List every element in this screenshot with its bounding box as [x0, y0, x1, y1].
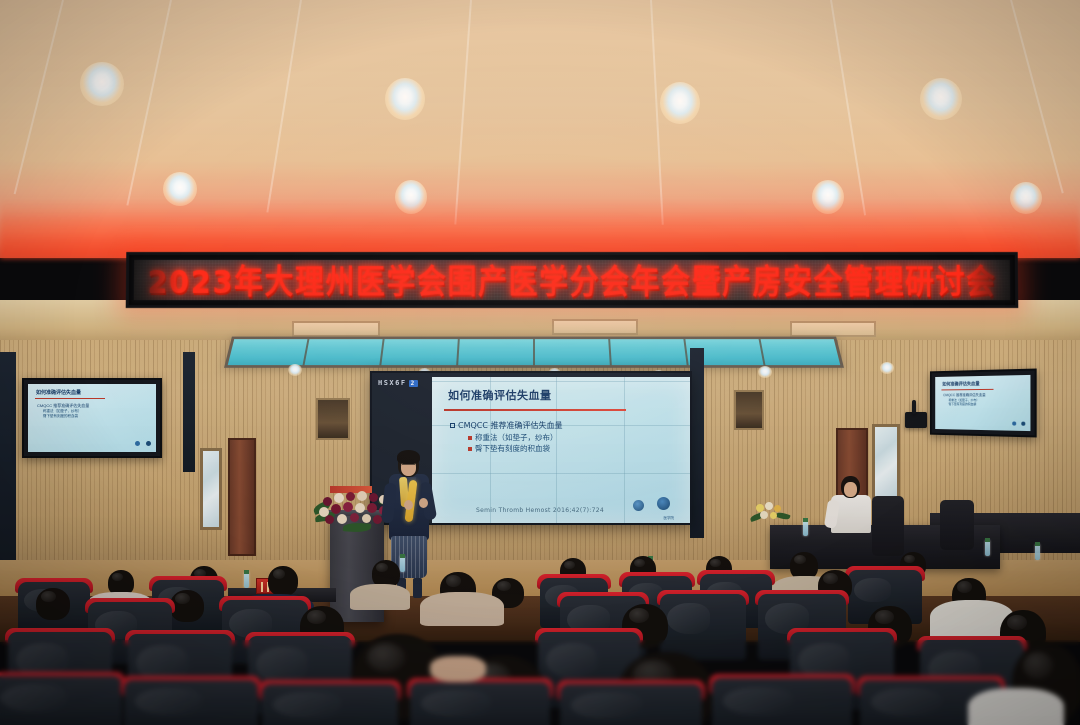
ceiling — [0, 0, 1080, 258]
led-banner-panel: 2023年大理州医学会围产医学分会年会暨产房安全管理研讨会 — [134, 260, 1010, 300]
auditorium-chair[interactable] — [410, 682, 550, 725]
slide-bullet-3: 臀下垫有刻度的积血袋 — [468, 443, 550, 454]
slide-logo-icon — [633, 500, 644, 511]
auditorium-chair[interactable] — [660, 594, 746, 660]
attendee-head — [268, 566, 298, 596]
session-chair-face — [844, 482, 857, 497]
screen-bezel-label: HSX6F 2 — [378, 379, 418, 387]
stage-downlight — [288, 364, 302, 376]
wall-corner-strip — [183, 352, 195, 472]
monitor-logo-icon — [135, 441, 140, 446]
attendee-shoulders — [420, 592, 504, 626]
ceiling-panel — [292, 321, 380, 337]
bottle-cap — [985, 538, 990, 542]
head-table-chair — [872, 496, 904, 556]
speaker-bracket — [912, 400, 916, 414]
wall-niche-right — [734, 390, 764, 430]
ceiling-downlight — [80, 62, 124, 106]
auditorium-chair[interactable] — [262, 684, 398, 725]
red-square-bullet-icon — [468, 447, 472, 451]
audience-seating — [0, 548, 1080, 725]
stage-downlight — [758, 366, 772, 378]
bezel-model-text: HSX6F — [378, 379, 407, 387]
ceiling-downlight — [660, 82, 700, 124]
attendee-head — [170, 590, 204, 622]
auditorium-chair[interactable] — [124, 680, 258, 725]
slide-title-underline — [444, 409, 626, 411]
bottle-cap — [803, 518, 808, 522]
slide-citation: Semin Thromb Hemost 2016;42(7):724 — [476, 507, 604, 514]
slide-bullet-3-text: 臀下垫有刻度的积血袋 — [475, 443, 550, 454]
monitor-logo-icon — [1021, 422, 1025, 426]
auditorium-chair[interactable] — [712, 678, 852, 725]
attendee-shoulders — [350, 584, 410, 610]
monitor-bullet-3: 臀下垫有刻度的积血袋 — [949, 402, 977, 406]
slide-title: 如何准确评估失血量 — [448, 387, 552, 403]
monitor-logo-icon — [146, 441, 151, 446]
ceiling-downlight — [385, 78, 425, 120]
presenter-glasses — [402, 464, 415, 467]
presenter-left-hand — [404, 500, 413, 510]
ceiling-skylight-coffer — [224, 337, 844, 368]
head-table-chair — [940, 500, 974, 550]
monitor-title-rule — [941, 389, 993, 391]
ceiling-panel — [552, 319, 638, 335]
red-square-bullet-icon — [468, 436, 472, 440]
wall-monitor-left: 如何准确评估失血量 CMQCC 推荐准确评估失血量 称重法（如垫子，纱布） 臀下… — [22, 378, 162, 458]
wall-window-right — [872, 424, 900, 500]
conference-hall-photo: 如何准确评估失血量 CMQCC 推荐准确评估失血量 称重法（如垫子，纱布） 臀下… — [0, 0, 1080, 725]
wall-corner-strip — [690, 348, 704, 538]
auditorium-chair[interactable] — [560, 684, 702, 725]
bezel-badge: 2 — [409, 380, 418, 387]
wall-monitor-right-screen: 如何准确评估失血量 CMQCC 推荐准确评估失血量 称重法（如垫子，纱布） 臀下… — [935, 375, 1030, 431]
presenter-right-hand — [419, 498, 428, 508]
presenter-hair — [397, 450, 420, 464]
slide-bullet-2-text: 称重法（如垫子，纱布） — [475, 432, 558, 443]
auditorium-chair[interactable] — [0, 676, 122, 725]
wall-window-left — [200, 448, 222, 530]
wall-corner-strip — [0, 352, 16, 560]
water-bottle — [803, 520, 808, 536]
monitor-logo-icon — [1012, 421, 1016, 425]
wall-niche-left — [316, 398, 350, 440]
slide-bullet-2: 称重法（如垫子，纱布） — [468, 432, 558, 443]
slide-bullet-1-text: CMQCC 推荐准确评估失血量 — [458, 420, 563, 431]
stage-door-left[interactable] — [228, 438, 256, 556]
monitor-bullet-3: 臀下垫有刻度的积血袋 — [43, 414, 78, 419]
slide-logo-caption: 医学院 — [664, 516, 675, 521]
monitor-slide-title: 如何准确评估失血量 — [942, 381, 979, 387]
led-banner-text: 2023年大理州医学会围产医学分会年会暨产房安全管理研讨会 — [147, 260, 997, 300]
wall-monitor-left-screen: 如何准确评估失血量 CMQCC 推荐准确评估失血量 称重法（如垫子，纱布） 臀下… — [28, 384, 156, 452]
monitor-slide-title: 如何准确评估失血量 — [36, 389, 81, 396]
wall-speaker-right — [905, 412, 927, 428]
slide-bullet-1: CMQCC 推荐准确评估失血量 — [450, 420, 563, 431]
presentation-slide: 如何准确评估失血量 CMQCC 推荐准确评估失血量 称重法（如垫子，纱布） 臀下… — [432, 377, 690, 523]
attendee-arm — [430, 656, 486, 682]
ceiling-downlight — [920, 78, 962, 120]
bottle-cap — [1035, 542, 1040, 546]
table-floral-arrangement — [748, 500, 792, 528]
attendee-shoulders — [968, 688, 1064, 725]
led-banner: 2023年大理州医学会围产医学分会年会暨产房安全管理研讨会 — [126, 252, 1019, 308]
hollow-square-bullet-icon — [450, 423, 455, 428]
banner-ceiling-glow — [0, 198, 1080, 258]
attendee-head — [36, 588, 70, 620]
stage-downlight — [880, 362, 894, 374]
slide-logo-icon — [657, 497, 670, 510]
monitor-title-rule — [35, 398, 105, 399]
ceiling-panel — [790, 321, 876, 337]
wall-monitor-right: 如何准确评估失血量 CMQCC 推荐准确评估失血量 称重法（如垫子，纱布） 臀下… — [930, 369, 1037, 438]
